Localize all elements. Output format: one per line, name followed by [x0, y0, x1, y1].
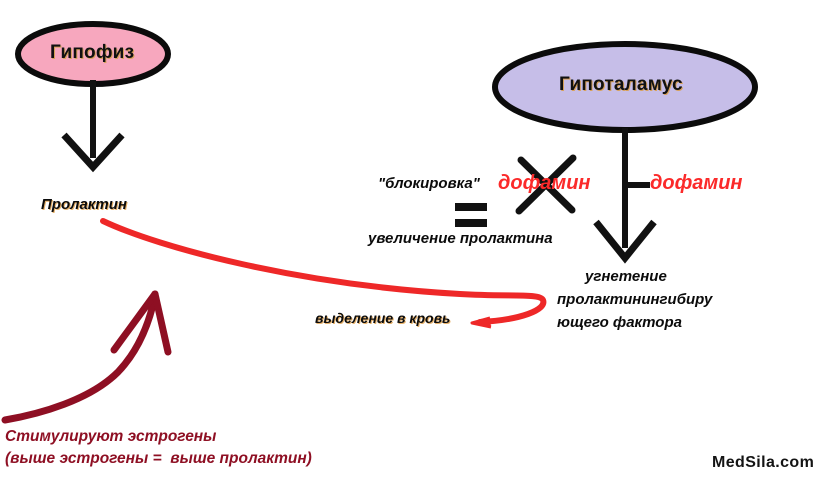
label-estrogens-line1: Стимулируют эстрогены — [5, 428, 216, 446]
label-dopamine-plain: дофамин — [650, 172, 743, 196]
arrow-hypothalamus-to-suppression — [596, 128, 654, 258]
label-dopamine-crossed: дофамин — [498, 172, 591, 196]
label-increase-prolactin: увеличение пролактина — [368, 230, 553, 248]
arrow-pituitary-to-prolactin — [64, 80, 122, 167]
label-suppression-line1: угнетение — [585, 268, 667, 286]
node-label-hypothalamus: Гипоталамус — [559, 74, 683, 96]
label-release-into-blood: выделение в кровь — [315, 310, 450, 327]
equals-sign-glyph — [455, 203, 487, 227]
label-estrogens-line2: (выше эстрогены = выше пролактин) — [5, 450, 312, 468]
diagram-canvas: Гипофиз Гипоталамус Пролактин "блокировк… — [0, 0, 820, 482]
label-blockade-quoted: "блокировка" — [378, 175, 480, 193]
label-suppression-line3: ющего фактора — [557, 314, 682, 332]
watermark-medsila: MedSila.com — [712, 454, 814, 473]
label-prolactin: Пролактин — [41, 196, 127, 214]
node-label-pituitary: Гипофиз — [50, 42, 134, 64]
label-suppression-line2: пролактинингибиру — [557, 291, 712, 309]
estrogen-stimulation-arrow — [5, 294, 168, 420]
